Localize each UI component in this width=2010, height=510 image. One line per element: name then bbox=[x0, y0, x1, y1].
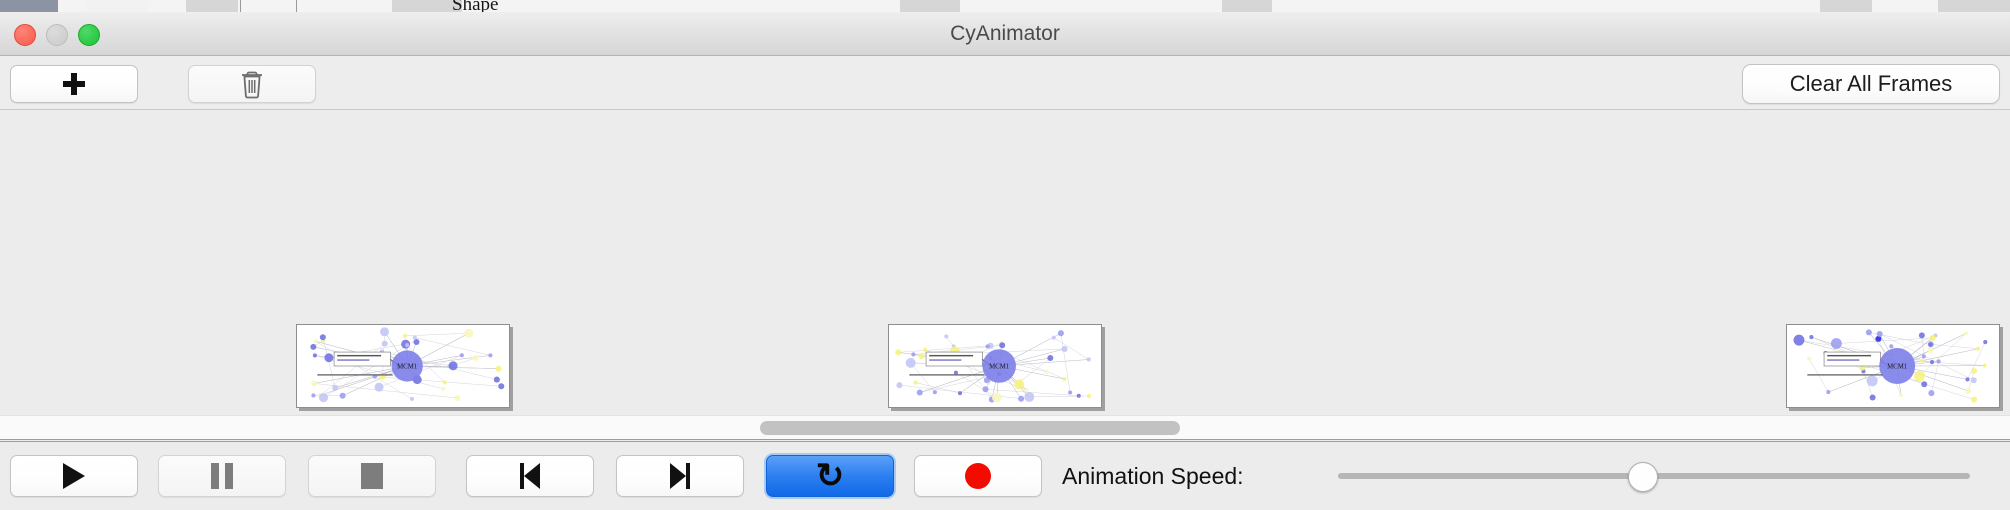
svg-text:MCM1: MCM1 bbox=[989, 363, 1009, 370]
keyframe-thumbnail-3[interactable]: MCM1 bbox=[1786, 324, 2000, 408]
frame-toolbar: Clear All Frames bbox=[0, 56, 2010, 110]
play-button[interactable] bbox=[10, 455, 138, 497]
animation-speed-label: Animation Speed: bbox=[1062, 442, 1244, 510]
play-icon bbox=[63, 463, 85, 489]
keyframe-thumbnail-1[interactable]: MCM1 bbox=[296, 324, 510, 408]
svg-text:MCM1: MCM1 bbox=[1887, 363, 1907, 370]
network-thumbnail: MCM1 bbox=[297, 325, 509, 407]
clear-all-frames-label: Clear All Frames bbox=[1790, 71, 1953, 97]
network-thumbnail: MCM1 bbox=[1787, 325, 1999, 407]
plus-icon bbox=[63, 73, 85, 95]
window-title: CyAnimator bbox=[0, 12, 2010, 56]
slider-knob[interactable] bbox=[1628, 462, 1658, 492]
window-title-bar: CyAnimator bbox=[0, 12, 2010, 56]
pause-button[interactable] bbox=[158, 455, 286, 497]
skip-to-start-button[interactable] bbox=[466, 455, 594, 497]
add-frame-button[interactable] bbox=[10, 65, 138, 103]
cyanimator-window: Shape CyAnimator Clear All Frames MCM1MC… bbox=[0, 0, 2010, 510]
record-button[interactable] bbox=[914, 455, 1042, 497]
skip-forward-icon bbox=[670, 463, 690, 489]
network-thumbnail: MCM1 bbox=[889, 325, 1101, 407]
record-icon bbox=[965, 463, 991, 489]
svg-text:MCM1: MCM1 bbox=[397, 363, 417, 370]
stop-icon bbox=[361, 463, 383, 489]
trash-icon bbox=[239, 69, 265, 99]
loop-button[interactable]: ↻ bbox=[766, 455, 894, 497]
skip-back-icon bbox=[520, 463, 540, 489]
skip-to-end-button[interactable] bbox=[616, 455, 744, 497]
stop-button[interactable] bbox=[308, 455, 436, 497]
timeline-horizontal-scrollbar[interactable] bbox=[0, 415, 2010, 440]
playback-control-bar: ↻ Animation Speed: bbox=[0, 441, 2010, 510]
pause-icon bbox=[211, 463, 233, 489]
clear-all-frames-button[interactable]: Clear All Frames bbox=[1742, 64, 2000, 104]
animation-speed-slider[interactable] bbox=[1338, 442, 1970, 510]
scrollbar-thumb[interactable] bbox=[760, 421, 1180, 435]
loop-icon: ↻ bbox=[816, 459, 845, 493]
delete-frame-button[interactable] bbox=[188, 65, 316, 103]
keyframe-thumbnail-2[interactable]: MCM1 bbox=[888, 324, 1102, 408]
timeline-panel[interactable]: MCM1MCM1MCM1 2131415161718 Seconds bbox=[0, 110, 2010, 415]
